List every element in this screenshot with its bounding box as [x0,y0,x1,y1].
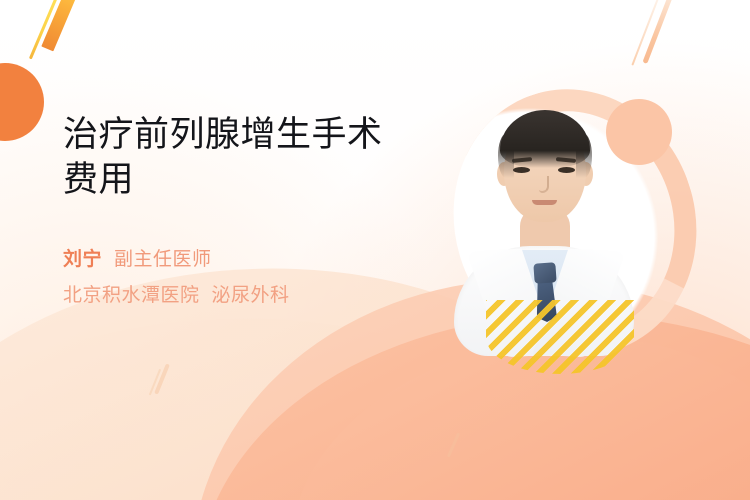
portrait-nose [539,176,549,193]
doctor-credentials: 刘宁副主任医师 [63,245,413,274]
doctor-promo-card: 治疗前列腺增生手术费用 刘宁副主任医师 北京积水潭医院泌尿外科 [0,0,750,500]
hospital-name: 北京积水潭医院 [63,285,200,306]
text-block: 治疗前列腺增生手术费用 刘宁副主任医师 北京积水潭医院泌尿外科 [63,113,413,307]
yellow-striped-disc-icon [486,300,634,374]
portrait-hair [500,110,590,168]
doctor-affiliation: 北京积水潭医院泌尿外科 [63,280,413,307]
doctor-name: 刘宁 [63,249,102,270]
portrait-eye-left [513,167,530,173]
portrait-eye-right [558,167,575,173]
doctor-title: 副主任医师 [114,249,212,270]
department-name: 泌尿外科 [212,285,290,306]
portrait-tie-knot [533,262,556,283]
page-title: 治疗前列腺增生手术费用 [63,113,393,203]
portrait-mouth [532,200,557,205]
